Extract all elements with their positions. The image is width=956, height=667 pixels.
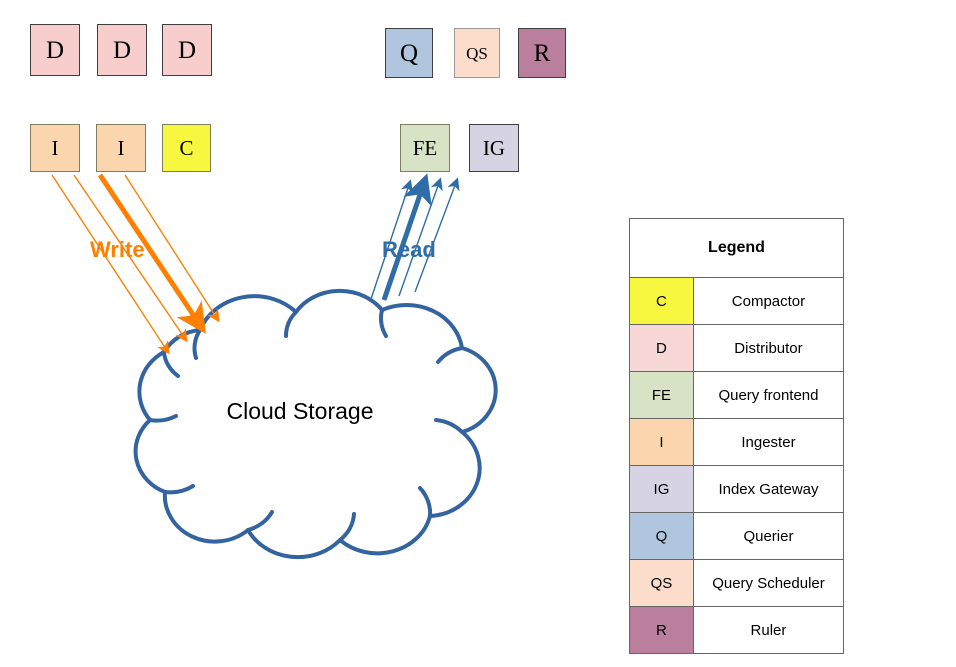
node-q[interactable]: Q	[385, 28, 433, 78]
legend-row: QSQuery Scheduler	[630, 560, 844, 607]
node-label: D	[113, 38, 131, 63]
legend-title: Legend	[630, 219, 844, 278]
node-label: C	[179, 138, 193, 159]
legend-key-d: D	[630, 325, 694, 372]
node-ig[interactable]: IG	[469, 124, 519, 172]
node-i1[interactable]: I	[30, 124, 80, 172]
legend-body: CCompactorDDistributorFEQuery frontendII…	[630, 278, 844, 654]
node-d2[interactable]: D	[97, 24, 147, 76]
diagram-canvas: DDDQQSRIICFEIG Write Read Cloud Storage …	[0, 0, 956, 667]
legend-table: Legend CCompactorDDistributorFEQuery fro…	[629, 218, 844, 654]
node-d1[interactable]: D	[30, 24, 80, 76]
legend-name-r: Ruler	[693, 607, 843, 654]
legend-key-qs: QS	[630, 560, 694, 607]
legend-row: DDistributor	[630, 325, 844, 372]
legend-key-i: I	[630, 419, 694, 466]
legend-key-q: Q	[630, 513, 694, 560]
node-label: D	[178, 38, 196, 63]
legend-key-fe: FE	[630, 372, 694, 419]
node-r[interactable]: R	[518, 28, 566, 78]
legend-key-r: R	[630, 607, 694, 654]
legend-row: FEQuery frontend	[630, 372, 844, 419]
node-fe[interactable]: FE	[400, 124, 450, 172]
legend-name-i: Ingester	[693, 419, 843, 466]
legend-header-row: Legend	[630, 219, 844, 278]
legend-row: RRuler	[630, 607, 844, 654]
legend-row: IIngester	[630, 419, 844, 466]
legend-key-ig: IG	[630, 466, 694, 513]
legend-row: QQuerier	[630, 513, 844, 560]
write-arrow-1	[52, 175, 168, 352]
node-label: IG	[483, 138, 505, 159]
node-label: R	[534, 41, 551, 66]
legend-key-c: C	[630, 278, 694, 325]
legend-name-q: Querier	[693, 513, 843, 560]
node-label: Q	[400, 41, 418, 66]
legend-name-c: Compactor	[693, 278, 843, 325]
read-flow-label: Read	[382, 237, 436, 263]
node-label: QS	[466, 45, 488, 62]
legend-name-fe: Query frontend	[693, 372, 843, 419]
node-qs[interactable]: QS	[454, 28, 500, 78]
legend-name-qs: Query Scheduler	[693, 560, 843, 607]
node-c[interactable]: C	[162, 124, 211, 172]
node-d3[interactable]: D	[162, 24, 212, 76]
node-i2[interactable]: I	[96, 124, 146, 172]
legend-name-d: Distributor	[693, 325, 843, 372]
node-label: D	[46, 38, 64, 63]
legend-row: CCompactor	[630, 278, 844, 325]
read-arrow-4	[415, 180, 457, 292]
write-arrow-group	[52, 175, 218, 352]
write-flow-label: Write	[90, 237, 145, 263]
node-label: FE	[413, 138, 438, 159]
legend-row: IGIndex Gateway	[630, 466, 844, 513]
node-label: I	[52, 138, 59, 159]
legend-name-ig: Index Gateway	[693, 466, 843, 513]
cloud-storage-label: Cloud Storage	[150, 398, 450, 425]
node-label: I	[118, 138, 125, 159]
